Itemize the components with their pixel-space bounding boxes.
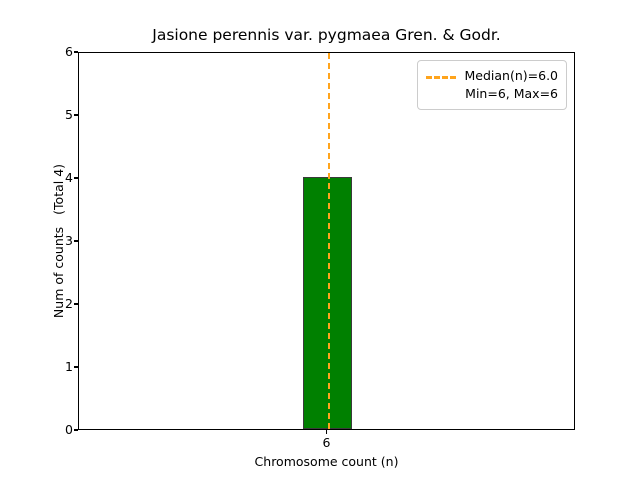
y-axis: 0123456 — [0, 52, 78, 430]
plot-area: Median(n)=6.0 Min=6, Max=6 — [78, 52, 575, 430]
x-axis-tick-mark — [326, 430, 327, 434]
chart-title: Jasione perennis var. pygmaea Gren. & Go… — [78, 26, 575, 44]
legend-entry-text: Median(n)=6.0 Min=6, Max=6 — [465, 67, 559, 103]
x-axis-tick: 6 — [323, 430, 331, 449]
x-axis-label: Chromosome count (n) — [78, 454, 575, 469]
median-line — [328, 53, 330, 429]
legend-swatch-median-line — [426, 76, 456, 79]
legend-entry-minmax: Min=6, Max=6 — [465, 85, 558, 103]
chart-figure: Jasione perennis var. pygmaea Gren. & Go… — [0, 0, 640, 480]
x-axis-tick-label: 6 — [323, 437, 331, 450]
legend-entry-median: Median(n)=6.0 — [465, 67, 559, 85]
chart-legend: Median(n)=6.0 Min=6, Max=6 — [417, 60, 568, 110]
